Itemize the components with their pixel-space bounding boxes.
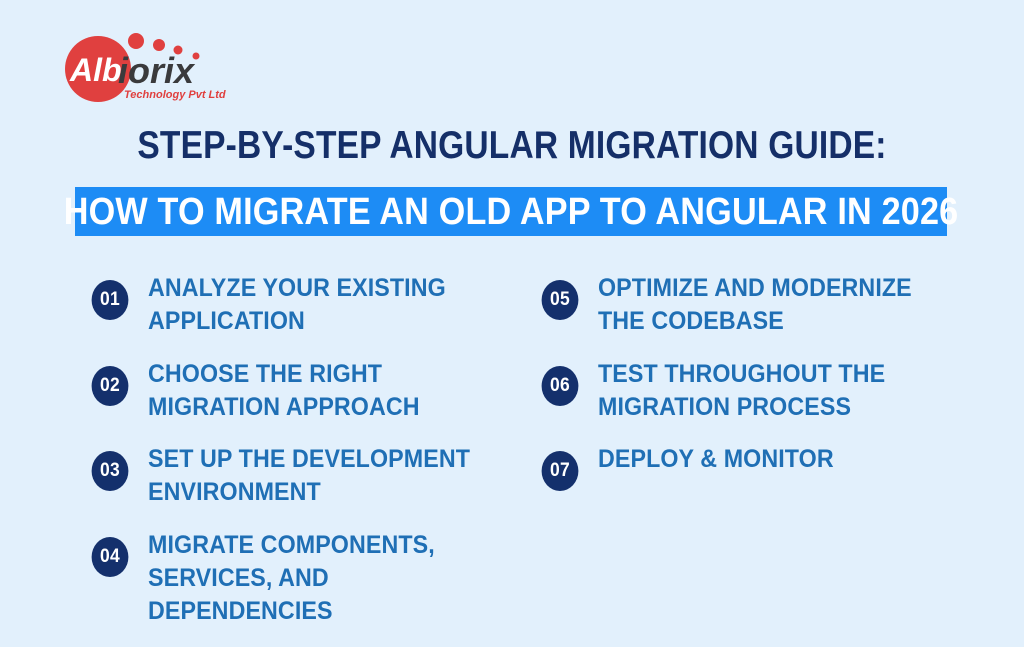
step-item: 01 ANALYZE YOUR EXISTING APPLICATION — [90, 272, 510, 339]
steps-column-left: 01 ANALYZE YOUR EXISTING APPLICATION 02 … — [90, 272, 510, 647]
logo-tagline: Technology Pvt Ltd — [124, 89, 226, 101]
step-label: TEST THROUGHOUT THE MIGRATION PROCESS — [598, 358, 935, 425]
step-number-badge: 03 — [92, 451, 129, 491]
logo-text-iorix: iorix — [118, 50, 196, 91]
subtitle-banner: HOW TO MIGRATE AN OLD APP TO ANGULAR IN … — [75, 187, 947, 236]
step-label: MIGRATE COMPONENTS, SERVICES, AND DEPEND… — [148, 529, 485, 629]
step-label: OPTIMIZE AND MODERNIZE THE CODEBASE — [598, 272, 935, 339]
steps-column-right: 05 OPTIMIZE AND MODERNIZE THE CODEBASE 0… — [540, 272, 960, 516]
step-number-badge: 04 — [92, 537, 129, 577]
logo-text-alb: Alb — [69, 52, 122, 88]
steps-section: 01 ANALYZE YOUR EXISTING APPLICATION 02 … — [0, 272, 1024, 622]
infographic-page: Alb iorix Technology Pvt Ltd STEP-BY-STE… — [0, 0, 1024, 633]
step-item: 03 SET UP THE DEVELOPMENT ENVIRONMENT — [90, 443, 510, 510]
step-number-badge: 07 — [542, 451, 579, 491]
logo-dot-1 — [128, 33, 144, 49]
step-label: DEPLOY & MONITOR — [598, 443, 935, 476]
title-block: STEP-BY-STEP ANGULAR MIGRATION GUIDE: — [0, 126, 1024, 167]
step-item: 05 OPTIMIZE AND MODERNIZE THE CODEBASE — [540, 272, 960, 339]
step-item: 02 CHOOSE THE RIGHT MIGRATION APPROACH — [90, 358, 510, 425]
step-label: SET UP THE DEVELOPMENT ENVIRONMENT — [148, 443, 485, 510]
step-number-badge: 01 — [92, 280, 129, 320]
step-item: 04 MIGRATE COMPONENTS, SERVICES, AND DEP… — [90, 529, 510, 629]
page-subtitle: HOW TO MIGRATE AN OLD APP TO ANGULAR IN … — [64, 193, 959, 231]
step-label: ANALYZE YOUR EXISTING APPLICATION — [148, 272, 485, 339]
page-title: STEP-BY-STEP ANGULAR MIGRATION GUIDE: — [72, 126, 953, 167]
step-label: CHOOSE THE RIGHT MIGRATION APPROACH — [148, 358, 485, 425]
step-item: 06 TEST THROUGHOUT THE MIGRATION PROCESS — [540, 358, 960, 425]
step-item: 07 DEPLOY & MONITOR — [540, 443, 960, 497]
step-number-badge: 05 — [542, 280, 579, 320]
step-number-badge: 06 — [542, 366, 579, 406]
logo-graphic: Alb iorix Technology Pvt Ltd — [56, 28, 256, 106]
albiorix-logo: Alb iorix Technology Pvt Ltd — [56, 28, 256, 106]
step-number-badge: 02 — [92, 366, 129, 406]
